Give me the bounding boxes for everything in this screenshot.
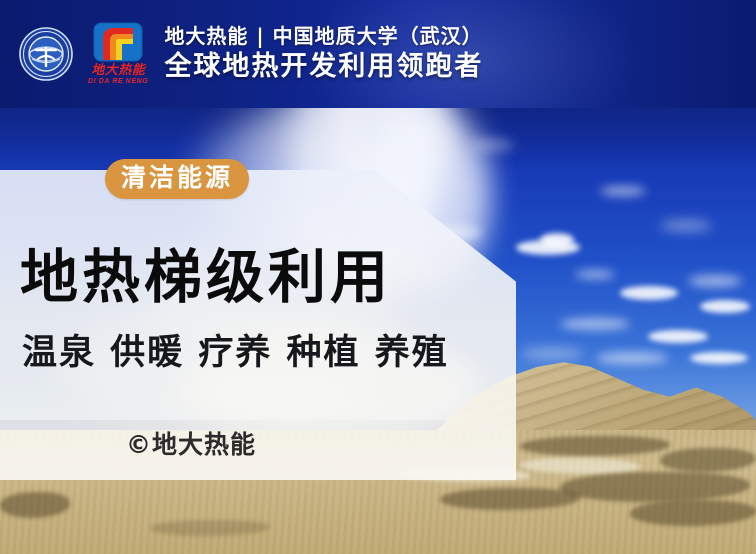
- didareneng-rainbow-logo-icon: [93, 22, 143, 62]
- poster-title: 地热梯级利用: [20, 248, 392, 306]
- header-line-2: 全球地热开发利用领跑者: [164, 51, 483, 83]
- cloud: [620, 286, 678, 300]
- cloud: [520, 348, 584, 359]
- cloud: [596, 352, 668, 364]
- cloud: [560, 318, 630, 330]
- brand-logo-pinyin: DI DA RE NENG: [88, 77, 148, 87]
- cloud: [660, 220, 712, 231]
- header-line-1: 地大热能 | 中国地质大学（武汉）: [164, 24, 483, 49]
- cloud: [688, 275, 742, 287]
- cloud: [700, 300, 750, 313]
- poster-canvas: 地大热能 DI DA RE NENG 地大热能 | 中国地质大学（武汉） 全球地…: [0, 0, 756, 554]
- brand-logo: 地大热能 DI DA RE NENG: [88, 22, 148, 87]
- poster-subtitle: 温泉 供暖 疗养 种植 养殖: [22, 336, 449, 371]
- header-text-block: 地大热能 | 中国地质大学（武汉） 全球地热开发利用领跑者: [164, 24, 483, 83]
- cloud: [575, 270, 615, 279]
- cloud: [540, 233, 574, 247]
- cloud: [648, 330, 708, 343]
- cug-university-seal-icon: [18, 26, 74, 82]
- cloud: [690, 352, 748, 364]
- brand-logo-cn: 地大热能: [91, 64, 145, 77]
- clean-energy-badge: 清洁能源: [105, 159, 249, 199]
- header-bar: 地大热能 DI DA RE NENG 地大热能 | 中国地质大学（武汉） 全球地…: [0, 0, 756, 108]
- cloud: [600, 186, 646, 196]
- copyright-notice: ©地大热能: [126, 432, 256, 457]
